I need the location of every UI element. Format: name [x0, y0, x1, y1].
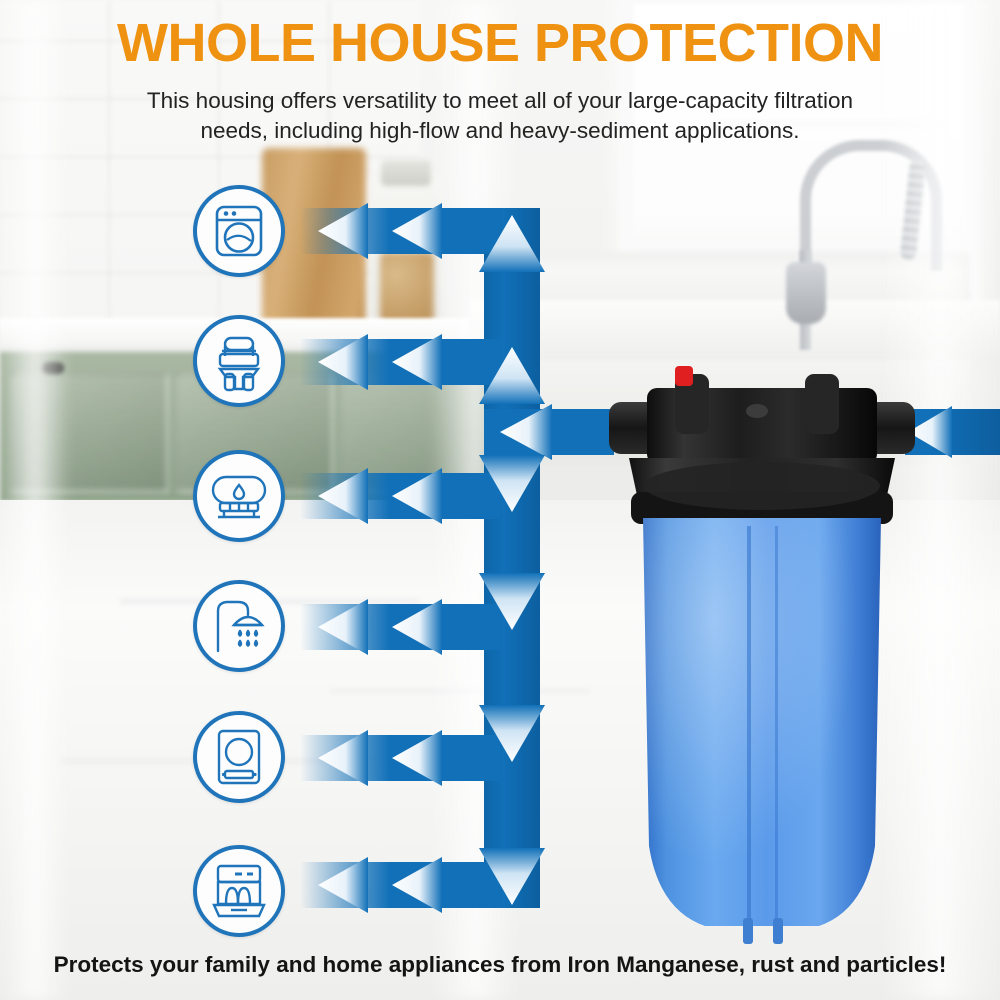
cap-center-boss	[746, 404, 768, 418]
appliance-icon-water-heater	[193, 450, 285, 542]
water-purifier-icon	[208, 330, 270, 392]
wall-hung-boiler-icon	[208, 726, 270, 788]
filter-housing-product	[607, 366, 917, 946]
dishwasher-icon	[208, 860, 270, 922]
sump-seam	[747, 526, 751, 921]
branch-flow-arrowheads	[318, 203, 442, 913]
vertical-distribution-pipe	[484, 208, 540, 908]
appliance-icon-water-purifier	[193, 315, 285, 407]
sump-foot	[773, 918, 783, 944]
washing-machine-icon	[208, 200, 270, 262]
water-heater-icon	[208, 465, 270, 527]
appliance-icon-shower-heads	[193, 580, 285, 672]
sump-seam	[775, 526, 778, 921]
cap-rib	[805, 374, 839, 434]
appliance-icon-dishwasher	[193, 845, 285, 937]
collar-top	[644, 462, 880, 510]
shower-head-icon	[208, 595, 270, 657]
appliance-branch-pipes	[300, 208, 500, 908]
pressure-release-button	[675, 366, 693, 386]
footer-tagline: Protects your family and home appliances…	[0, 952, 1000, 978]
infographic-canvas: WHOLE HOUSE PROTECTION This housing offe…	[0, 0, 1000, 1000]
appliance-icon-wall-hung-boilers	[193, 711, 285, 803]
sump-foot	[743, 918, 753, 944]
sump-highlight	[643, 518, 881, 926]
appliance-icon-washing-machine	[193, 185, 285, 277]
